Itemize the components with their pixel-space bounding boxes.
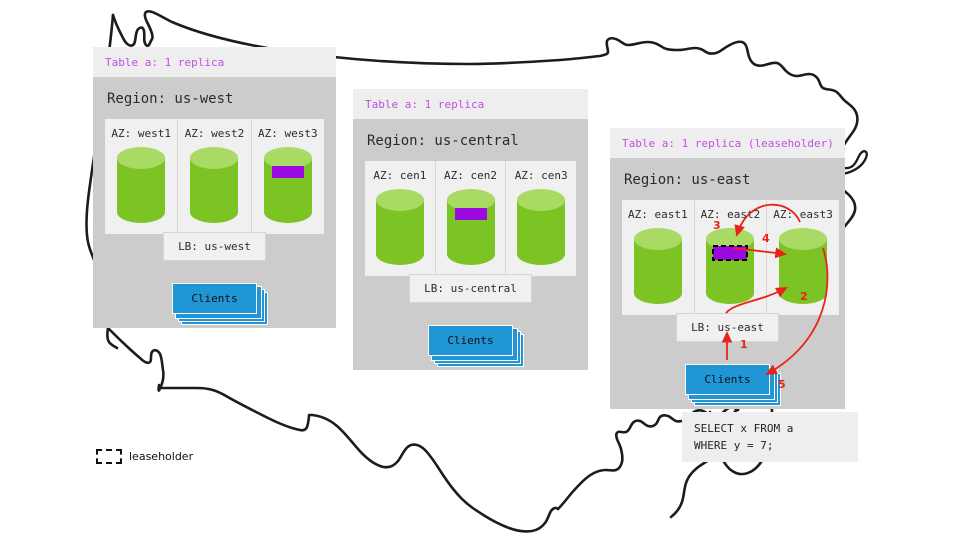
node-cen2 (442, 188, 500, 266)
az-label-west2: AZ: west2 (184, 127, 244, 140)
step-label-4: 4 (762, 232, 770, 245)
az-label-east3: AZ: east3 (773, 208, 833, 221)
node-cen3 (512, 188, 570, 266)
az-cen3[interactable]: AZ: cen3 (506, 161, 576, 276)
clients-stack-us-east[interactable]: Clients (685, 364, 769, 395)
clients-button-us-central[interactable]: Clients (428, 325, 512, 356)
az-west1[interactable]: AZ: west1 (105, 119, 178, 234)
region-title-us-central: Region: us-central (367, 133, 576, 149)
region-header-us-west: Table a: 1 replica (93, 47, 336, 77)
region-title-us-east: Region: us-east (624, 172, 833, 188)
az-row-us-west: AZ: west1 AZ: west2 (105, 119, 324, 234)
node-cen1 (371, 188, 429, 266)
diagram-canvas: Table a: 1 replica Region: us-west AZ: w… (0, 0, 960, 540)
region-panel-us-central: Table a: 1 replica Region: us-central AZ… (353, 89, 588, 370)
load-balancer-us-west[interactable]: LB: us-west (163, 232, 266, 261)
az-cen2[interactable]: AZ: cen2 (436, 161, 507, 276)
replica-marker (455, 208, 487, 220)
region-header-us-east: Table a: 1 replica (leaseholder) (610, 128, 845, 158)
database-cylinder-icon (632, 227, 684, 305)
step-label-5: 5 (778, 378, 786, 391)
database-cylinder-icon (188, 146, 240, 224)
region-body-us-east: Region: us-east AZ: east1 AZ: east2 (610, 158, 845, 409)
az-label-cen2: AZ: cen2 (442, 169, 500, 182)
clients-stack-us-central[interactable]: Clients (428, 325, 512, 356)
load-balancer-us-central[interactable]: LB: us-central (409, 274, 532, 303)
region-panel-us-east: Table a: 1 replica (leaseholder) Region:… (610, 128, 845, 409)
az-label-east1: AZ: east1 (628, 208, 688, 221)
az-row-us-central: AZ: cen1 AZ: cen2 (365, 161, 576, 276)
az-west2[interactable]: AZ: west2 (178, 119, 251, 234)
node-west1 (111, 146, 171, 224)
database-cylinder-icon (515, 188, 567, 266)
clients-button-us-west[interactable]: Clients (172, 283, 256, 314)
leaseholder-swatch-icon (96, 449, 122, 464)
node-west3 (258, 146, 318, 224)
node-east2 (701, 227, 761, 305)
database-cylinder-icon (115, 146, 167, 224)
az-label-cen3: AZ: cen3 (512, 169, 570, 182)
step-label-3: 3 (713, 219, 721, 232)
legend: leaseholder (96, 449, 193, 464)
node-east1 (628, 227, 688, 305)
region-body-us-west: Region: us-west AZ: west1 AZ: west2 (93, 77, 336, 328)
clients-button-us-east[interactable]: Clients (685, 364, 769, 395)
database-cylinder-icon (262, 146, 314, 224)
step-label-1: 1 (740, 338, 748, 351)
load-balancer-us-east[interactable]: LB: us-east (676, 313, 779, 342)
database-cylinder-icon (704, 227, 756, 305)
database-cylinder-icon (374, 188, 426, 266)
region-title-us-west: Region: us-west (107, 91, 324, 107)
leaseholder-replica-marker (713, 246, 747, 260)
step-label-2: 2 (800, 290, 808, 303)
sql-query-box: SELECT x FROM a WHERE y = 7; (682, 412, 858, 462)
region-body-us-central: Region: us-central AZ: cen1 AZ: cen2 (353, 119, 588, 370)
az-east2[interactable]: AZ: east2 (695, 200, 768, 315)
az-cen1[interactable]: AZ: cen1 (365, 161, 436, 276)
az-label-west3: AZ: west3 (258, 127, 318, 140)
az-east1[interactable]: AZ: east1 (622, 200, 695, 315)
region-header-us-central: Table a: 1 replica (353, 89, 588, 119)
legend-label: leaseholder (129, 450, 193, 463)
clients-stack-us-west[interactable]: Clients (172, 283, 256, 314)
az-label-cen1: AZ: cen1 (371, 169, 429, 182)
replica-marker (272, 166, 304, 178)
node-west2 (184, 146, 244, 224)
az-west3[interactable]: AZ: west3 (252, 119, 324, 234)
region-panel-us-west: Table a: 1 replica Region: us-west AZ: w… (93, 47, 336, 328)
az-label-west1: AZ: west1 (111, 127, 171, 140)
az-label-east2: AZ: east2 (701, 208, 761, 221)
database-cylinder-icon (445, 188, 497, 266)
